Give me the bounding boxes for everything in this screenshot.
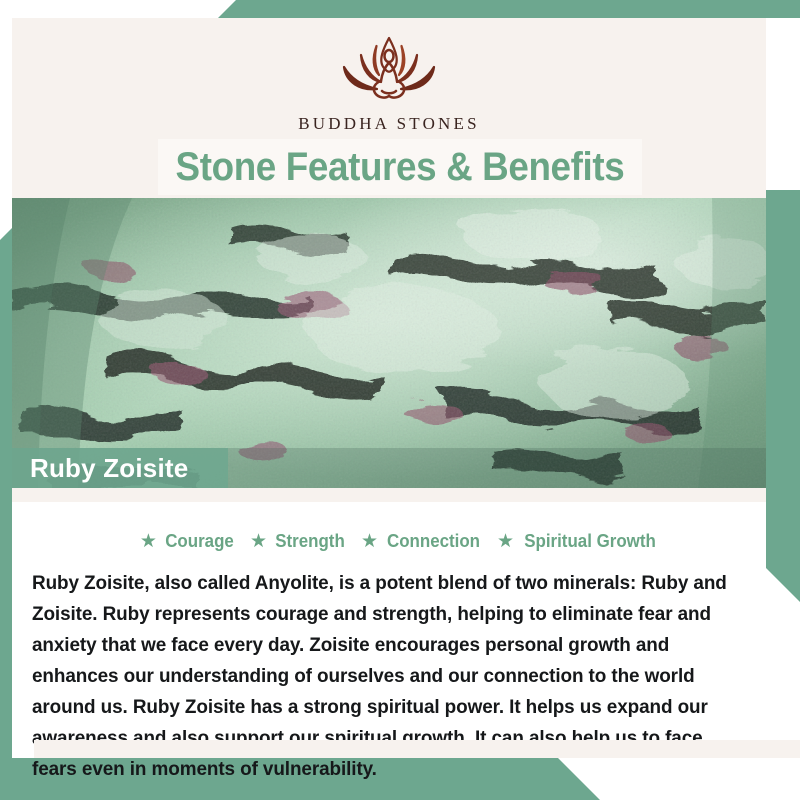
star-icon: ★ xyxy=(140,532,157,551)
content-card-top-strip xyxy=(12,488,766,502)
benefit-item-spiritual-growth: ★ Spiritual Growth xyxy=(497,531,660,552)
star-icon: ★ xyxy=(250,532,267,551)
lotus-meditation-icon xyxy=(329,30,449,112)
benefit-label: Courage xyxy=(165,531,234,552)
title-band: Stone Features & Benefits xyxy=(158,139,642,195)
star-icon: ★ xyxy=(497,532,514,551)
benefit-item-strength: ★ Strength xyxy=(250,531,347,552)
decor-band-top xyxy=(218,0,800,18)
stone-photo xyxy=(12,198,766,488)
page-title: Stone Features & Benefits xyxy=(176,145,625,190)
benefit-label: Spiritual Growth xyxy=(524,531,656,552)
stone-name-badge: Ruby Zoisite xyxy=(12,448,228,488)
brand-name: BUDDHA STONES xyxy=(298,114,480,134)
benefit-item-courage: ★ Courage xyxy=(140,531,236,552)
benefits-row: ★ Courage ★ Strength ★ Connection ★ Spir… xyxy=(0,531,800,552)
benefit-label: Connection xyxy=(387,531,480,552)
stone-photo-art xyxy=(12,198,766,488)
star-icon: ★ xyxy=(361,532,378,551)
footer-strip xyxy=(34,740,800,758)
stone-name: Ruby Zoisite xyxy=(30,453,188,484)
stone-info-poster: BUDDHA STONES Stone Features & Benefits xyxy=(0,0,800,800)
benefit-item-connection: ★ Connection xyxy=(361,531,483,552)
benefit-label: Strength xyxy=(275,531,345,552)
